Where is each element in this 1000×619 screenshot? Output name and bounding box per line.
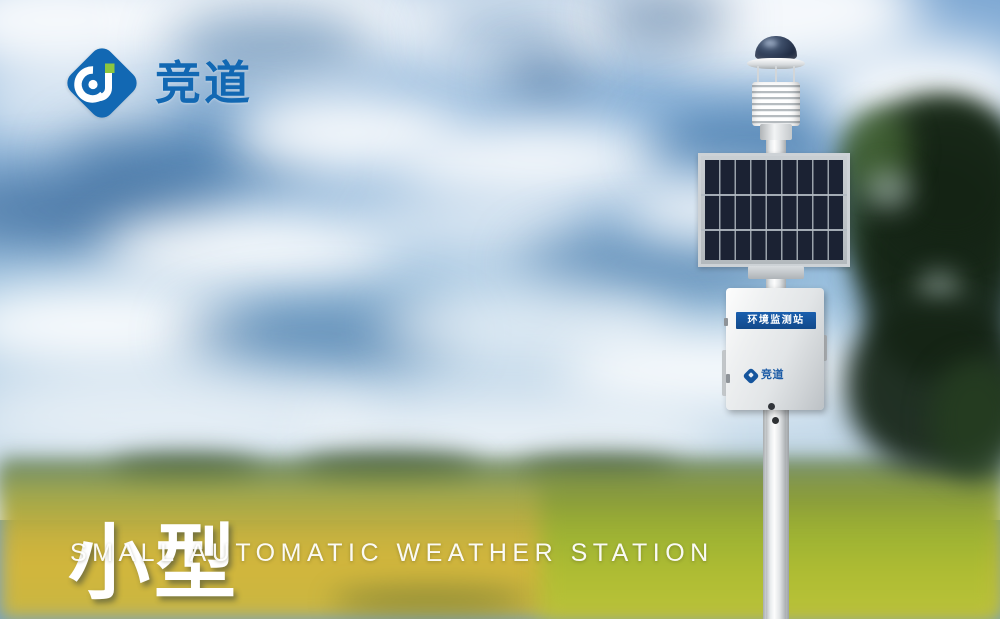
solar-busbar <box>701 229 847 231</box>
control-box <box>726 288 824 410</box>
control-box-brand-logo: 竞道 <box>743 368 784 383</box>
control-box-brand-text: 竞道 <box>761 370 784 381</box>
product-banner: 环境监测站 竞道 竞道 小型 自 <box>0 0 1000 619</box>
solar-cells <box>705 160 843 260</box>
control-box-banner: 环境监测站 <box>736 312 816 329</box>
solar-panel-bracket <box>748 266 804 279</box>
control-box-screw <box>726 374 730 383</box>
control-box-screw <box>724 318 728 326</box>
dome-highlight <box>764 40 777 47</box>
logo-jd-glyph-icon <box>63 44 141 122</box>
page-subtitle: SMALL AUTOMATIC WEATHER STATION <box>70 541 714 566</box>
control-box-banner-text: 环境监测站 <box>748 316 805 326</box>
solar-busbar <box>701 194 847 196</box>
radiation-shield <box>752 82 800 126</box>
jingdao-logo-mark-small <box>743 368 758 383</box>
control-box-bottom-screw <box>768 403 775 410</box>
shield-neck <box>760 124 792 140</box>
brand-logo[interactable]: 竞道 <box>63 44 253 122</box>
brand-name-text: 竞道 <box>155 60 253 106</box>
jingdao-logo-mark <box>63 44 141 122</box>
pole-bolt <box>772 417 779 424</box>
page-title: 小型 自动气象站 <box>68 305 498 619</box>
solar-panel <box>698 153 850 267</box>
